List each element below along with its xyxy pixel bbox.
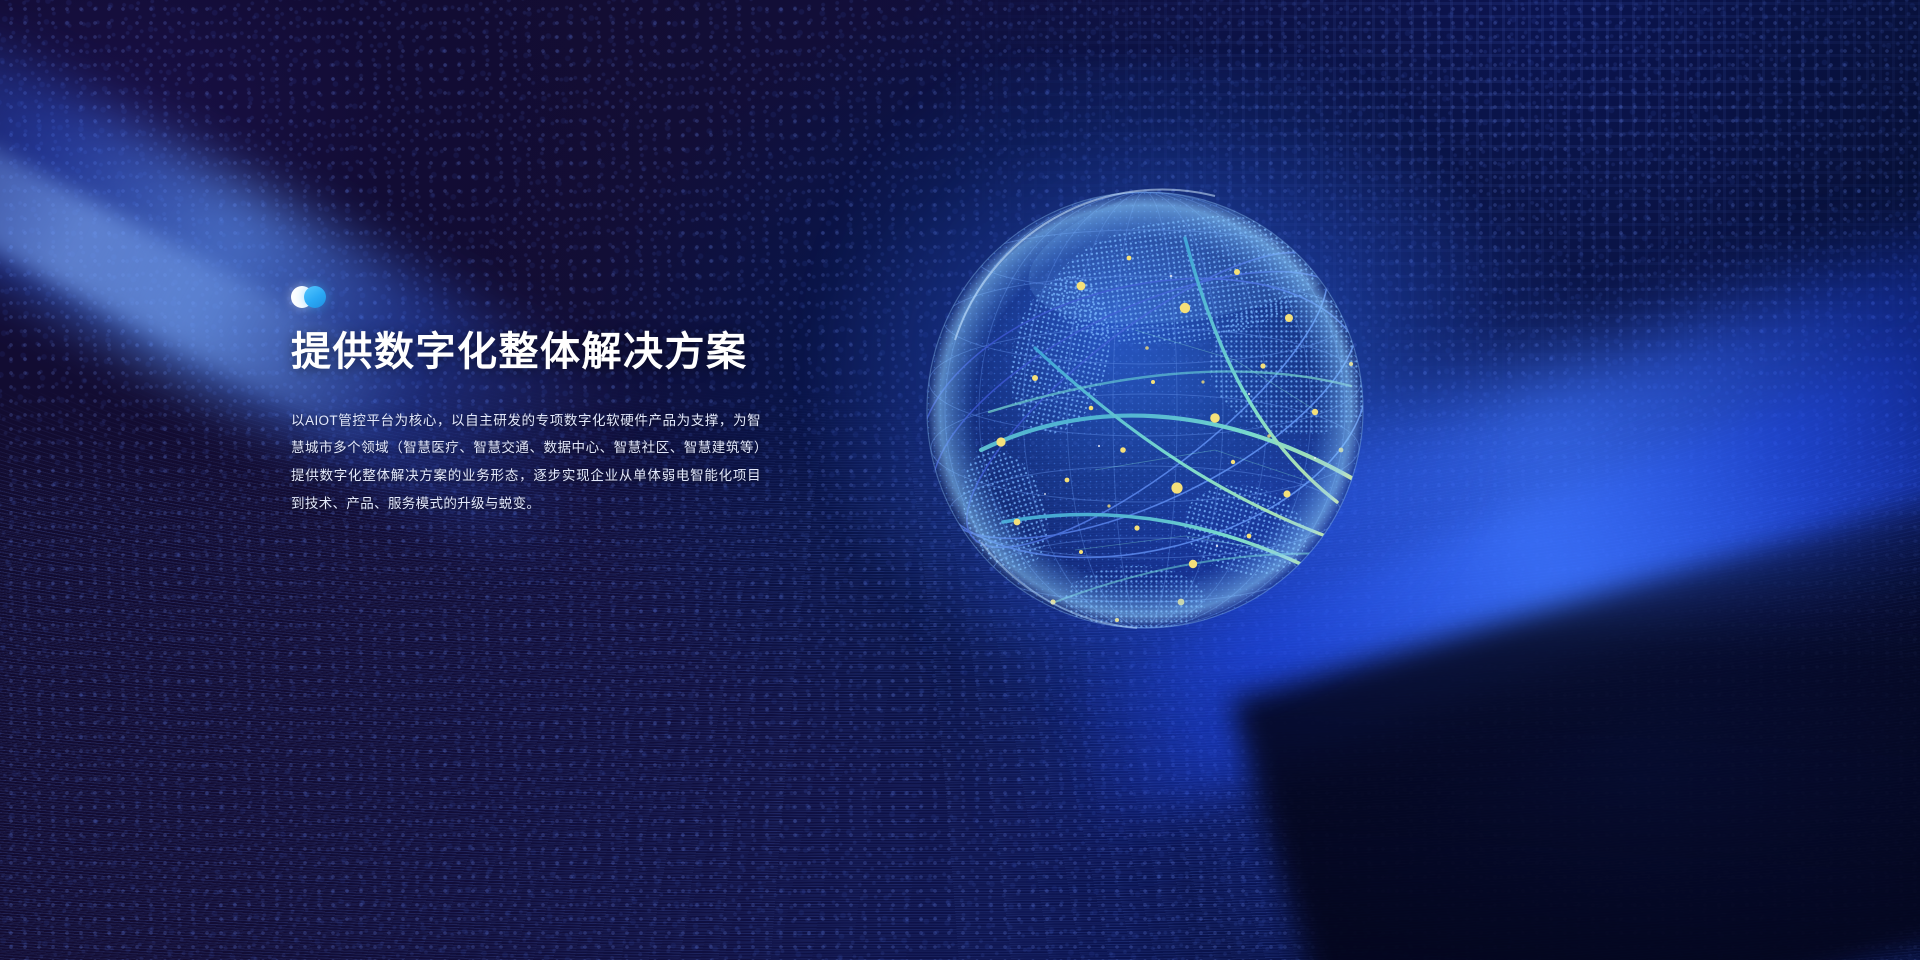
digital-globe [885,150,1405,670]
page-title: 提供数字化整体解决方案 [291,330,761,375]
globe-wireframe-icon [885,150,1405,670]
logo-dot-cyan-icon [304,286,326,308]
two-dot-logo [291,286,335,308]
hero-content: 提供数字化整体解决方案 以AIOT管控平台为核心，以自主研发的专项数字化软硬件产… [291,286,761,517]
hero-banner: 提供数字化整体解决方案 以AIOT管控平台为核心，以自主研发的专项数字化软硬件产… [0,0,1920,960]
hero-description: 以AIOT管控平台为核心，以自主研发的专项数字化软硬件产品为支撑，为智慧城市多个… [291,407,761,518]
